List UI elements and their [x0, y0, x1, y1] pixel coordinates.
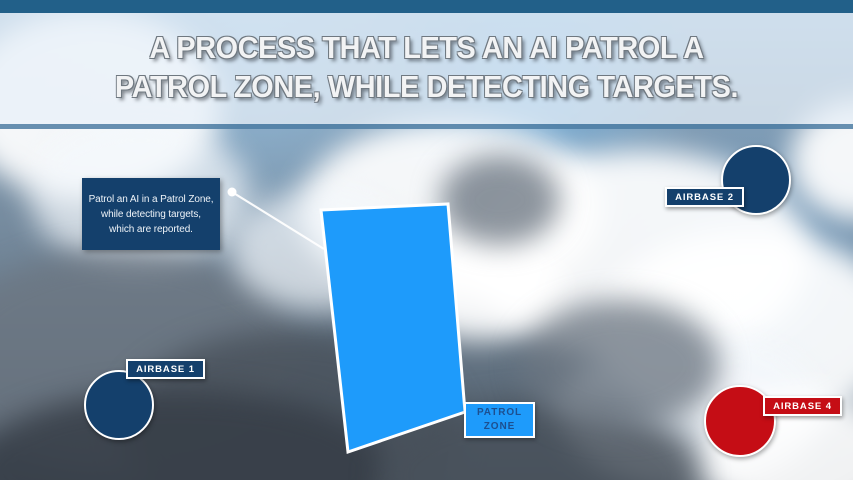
airbase-2-label[interactable]: AIRBASE 2 [665, 187, 744, 207]
callout-text: Patrol an AI in a Patrol Zone, while det… [83, 192, 220, 237]
airbase-1-circle[interactable] [84, 370, 154, 440]
callout-box: Patrol an AI in a Patrol Zone, while det… [82, 178, 220, 250]
airbase-1-label[interactable]: AIRBASE 1 [126, 359, 205, 379]
patrol-zone-label-line2: ZONE [484, 420, 515, 434]
patrol-zone-label-line1: PATROL [477, 406, 522, 420]
airbase-4-label[interactable]: AIRBASE 4 [763, 396, 842, 416]
presentation-slide: A PROCESS THAT LETS AN AI PATROL A PATRO… [0, 0, 853, 480]
patrol-zone-label[interactable]: PATROL ZONE [464, 402, 535, 438]
